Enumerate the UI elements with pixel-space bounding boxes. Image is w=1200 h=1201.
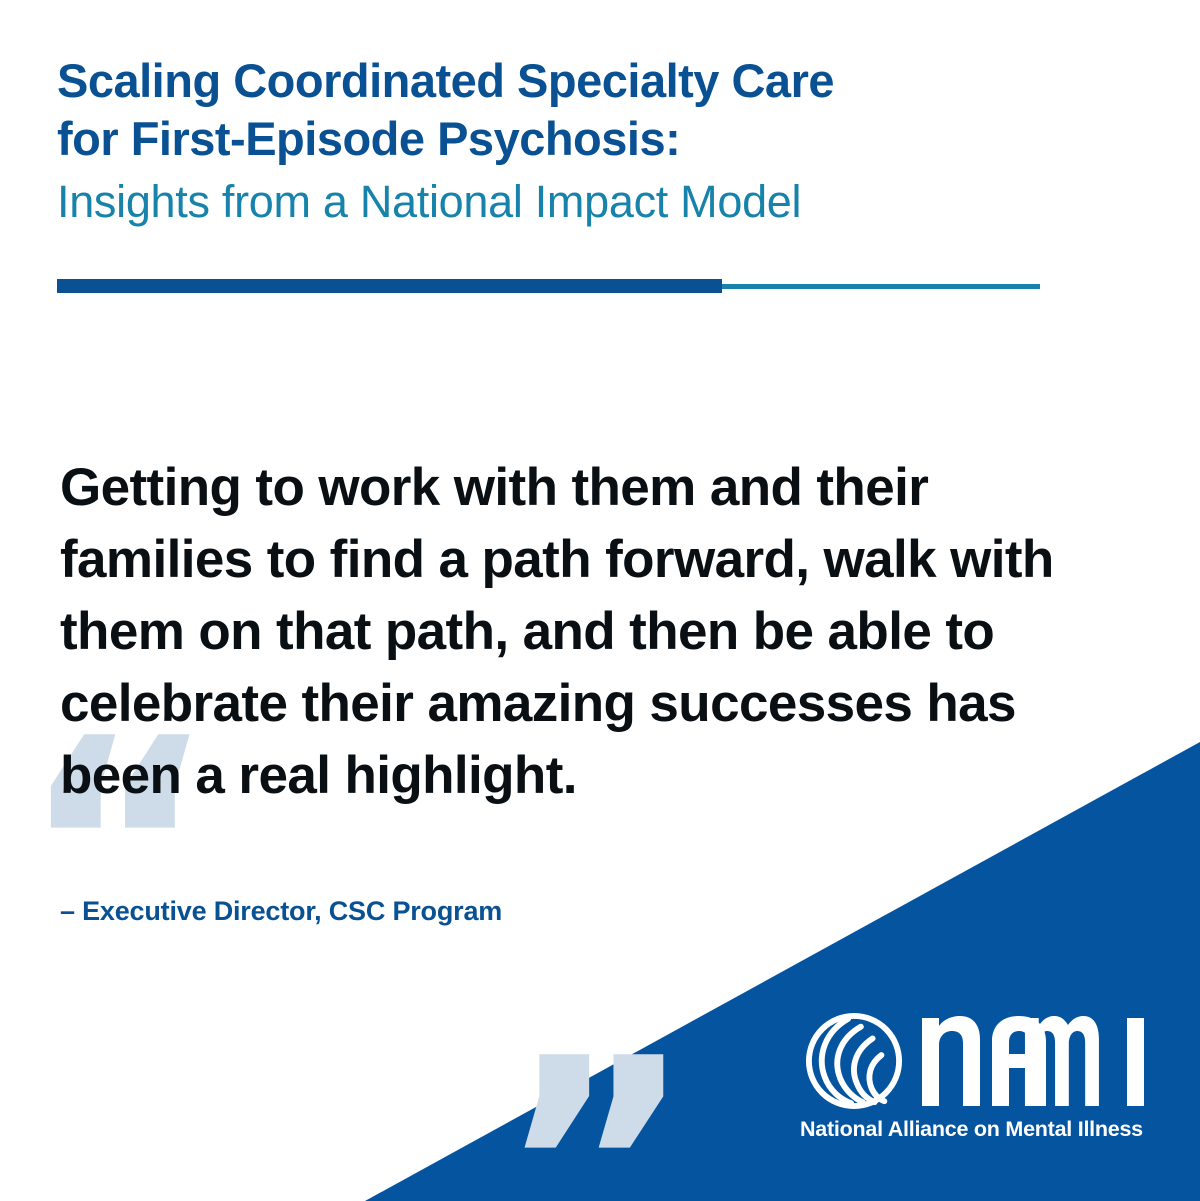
page-title: Scaling Coordinated Specialty Care for F… [57, 52, 1057, 168]
nami-logo: National Alliance on Mental Illness [800, 1012, 1150, 1147]
divider-thin-segment [722, 284, 1040, 289]
nami-swirl-circle-icon [805, 1012, 903, 1110]
close-quote-mark: ” [497, 1020, 694, 1201]
nami-wordmark [922, 1016, 1144, 1106]
quote-block: “ ” Getting to work with them and their … [0, 390, 1200, 870]
quote-text: Getting to work with them and their fami… [60, 452, 1135, 812]
slide-canvas: Scaling Coordinated Specialty Care for F… [0, 0, 1200, 1201]
title-block: Scaling Coordinated Specialty Care for F… [57, 52, 1057, 230]
quote-attribution: – Executive Director, CSC Program [60, 896, 502, 927]
divider-thick-segment [57, 279, 722, 293]
divider [57, 279, 1040, 293]
nami-tagline: National Alliance on Mental Illness [800, 1117, 1143, 1142]
page-subtitle: Insights from a National Impact Model [57, 174, 1057, 230]
